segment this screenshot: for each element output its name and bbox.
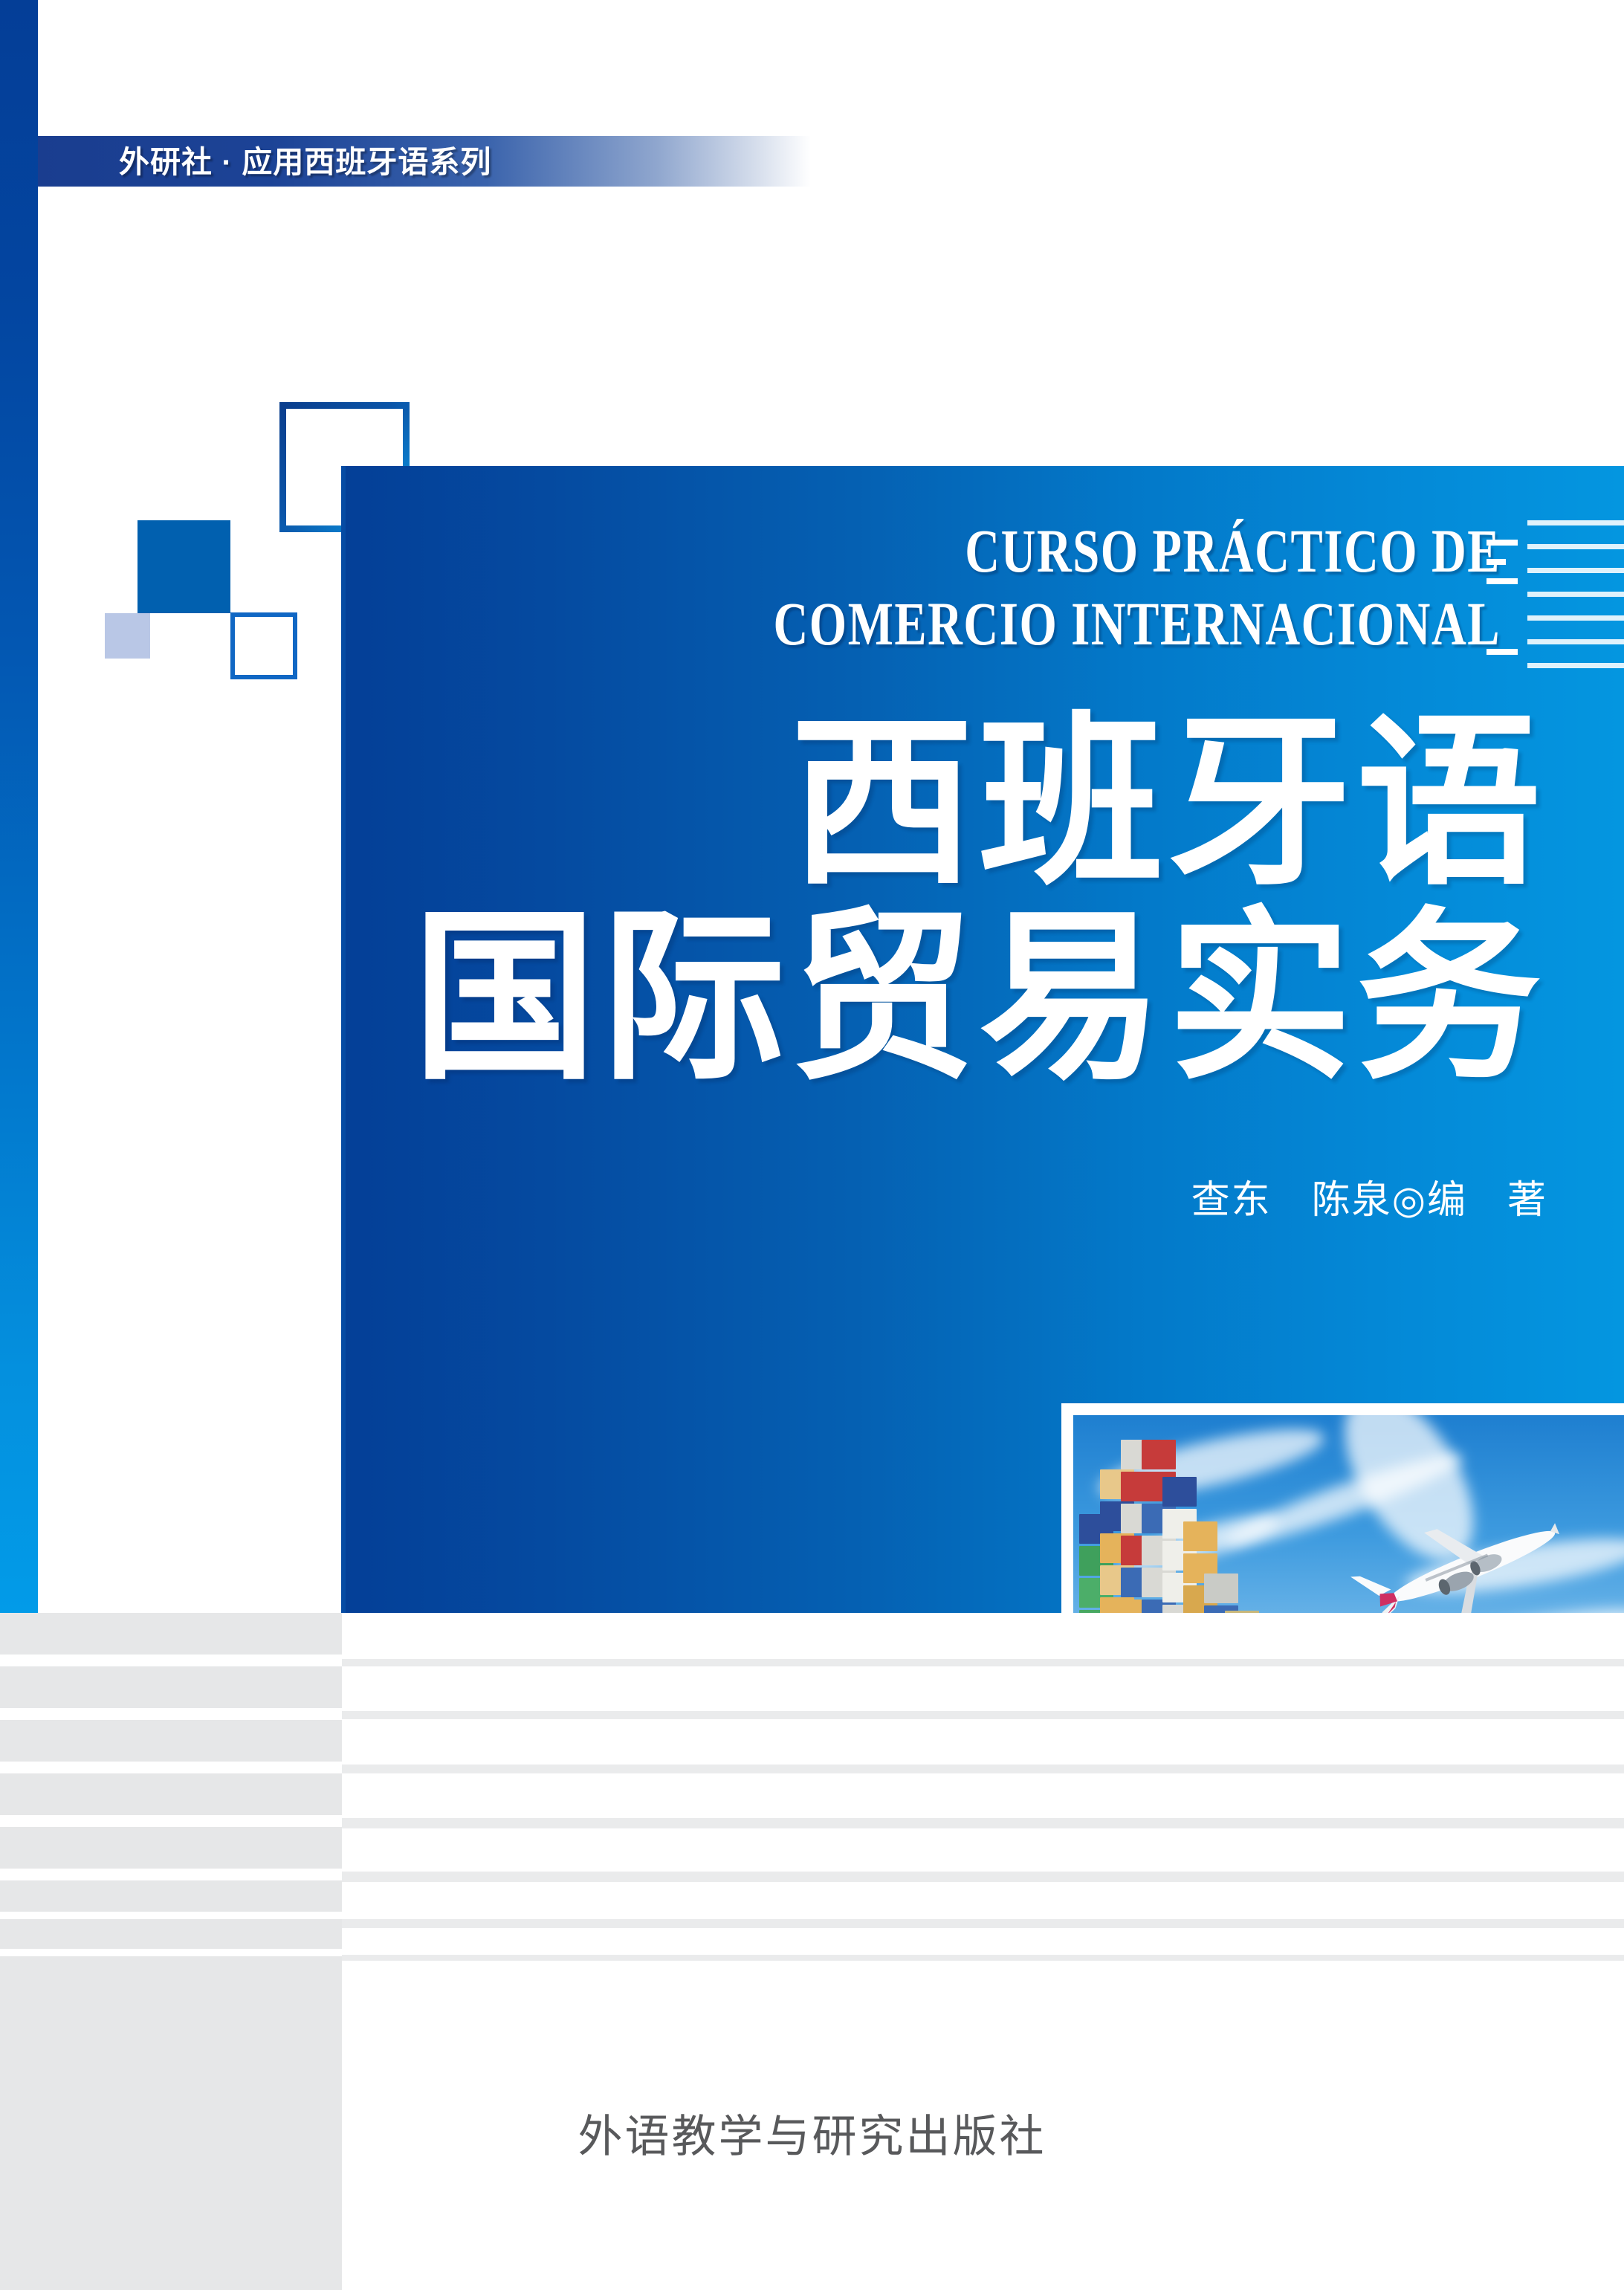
stripe-left-column [0,1613,342,2290]
decorative-rule [1527,592,1624,597]
left-spine-bar [0,0,38,1613]
chinese-main-title: 西班牙语 国际贸易实务 [341,706,1545,1096]
spanish-subtitle: CURSO PRÁCTICO DE COMERCIO INTERNACIONAL [596,514,1501,660]
bottom-stripe-block [0,1613,1624,2290]
book-cover: 外研社 · 应用西班牙语系列 CURSO PRÁCTICO DE COMERCI… [0,0,1624,2290]
decorative-rule [1527,544,1624,549]
decorative-tick [1486,559,1506,565]
decorative-rule [1527,520,1624,525]
publisher-name: 外语教学与研究出版社 [0,2100,1624,2165]
stripe-right-column [342,1613,1624,2290]
decorative-rule [1527,639,1624,644]
decorative-rule [1527,568,1624,573]
stripe-band [0,1880,342,1912]
spanish-subtitle-line-1: CURSO PRÁCTICO DE [596,514,1501,587]
spanish-subtitle-line-2: COMERCIO INTERNACIONAL [596,587,1501,660]
decorative-outlined-square-small [230,612,297,679]
stripe-band [0,1773,342,1815]
chinese-title-line-1: 西班牙语 [341,706,1545,901]
decorative-rule-stack [1527,520,1624,687]
series-banner-label: 外研社 · 应用西班牙语系列 [119,140,491,184]
stripe-rule [342,1765,1624,1773]
stripe-band [0,1827,342,1869]
chinese-title-line-2: 国际贸易实务 [341,901,1545,1096]
stripe-rule [342,1955,1624,1961]
stripe-band [0,1613,342,1655]
stripe-band [0,1666,342,1708]
decorative-rule [1527,615,1624,621]
decorative-pale-square [105,613,150,659]
decorative-filled-square [138,520,230,613]
decorative-tick [1486,578,1518,584]
decorative-rule [1527,663,1624,668]
stripe-rule [342,1711,1624,1719]
stripe-band [0,1720,342,1762]
stripe-rule [342,1872,1624,1882]
stripe-band [0,1919,342,1949]
stripe-rule [342,1818,1624,1828]
stripe-rule [342,1659,1624,1666]
decorative-tick [1486,649,1518,655]
decorative-tick [1486,540,1518,546]
stripe-rule [342,1919,1624,1928]
author-byline: 查东 陈泉◎编 著 [341,1168,1547,1224]
